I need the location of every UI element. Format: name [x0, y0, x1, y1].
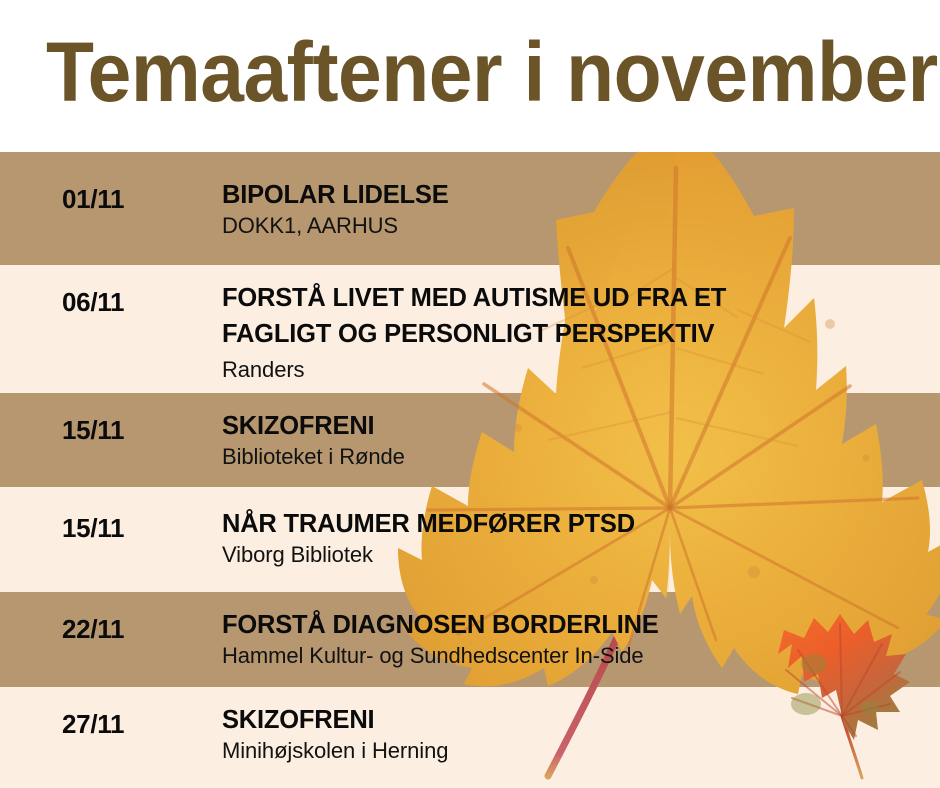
- event-title-line-2: FAGLIGT OG PERSONLIGT PERSPEKTIV: [222, 319, 940, 350]
- event-date: 15/11: [62, 415, 124, 445]
- event-venue: Viborg Bibliotek: [222, 541, 940, 569]
- event-details: FORSTÅ LIVET MED AUTISME UD FRA ET FAGLI…: [222, 283, 940, 384]
- event-venue: Randers: [222, 356, 940, 384]
- event-row[interactable]: 15/11 SKIZOFRENI Biblioteket i Rønde: [0, 393, 940, 487]
- event-title: SKIZOFRENI: [222, 411, 940, 442]
- event-details: FORSTÅ DIAGNOSEN BORDERLINE Hammel Kultu…: [222, 610, 940, 670]
- event-details: BIPOLAR LIDELSE DOKK1, AARHUS: [222, 180, 940, 240]
- event-title-line-1: FORSTÅ LIVET MED AUTISME UD FRA ET: [222, 283, 940, 314]
- event-row[interactable]: 06/11 FORSTÅ LIVET MED AUTISME UD FRA ET…: [0, 265, 940, 393]
- event-date: 06/11: [62, 287, 124, 317]
- event-venue: Biblioteket i Rønde: [222, 443, 940, 471]
- event-details: SKIZOFRENI Minihøjskolen i Herning: [222, 705, 940, 765]
- event-date: 27/11: [62, 709, 124, 739]
- page-title: Temaaftener i november: [46, 24, 938, 120]
- event-row[interactable]: 27/11 SKIZOFRENI Minihøjskolen i Herning: [0, 687, 940, 788]
- event-venue: Minihøjskolen i Herning: [222, 737, 940, 765]
- event-row[interactable]: 15/11 NÅR TRAUMER MEDFØRER PTSD Viborg B…: [0, 487, 940, 592]
- event-date: 22/11: [62, 614, 124, 644]
- event-date: 01/11: [62, 184, 124, 214]
- event-date: 15/11: [62, 513, 124, 543]
- event-title: SKIZOFRENI: [222, 705, 940, 736]
- header-band: Temaaftener i november: [0, 0, 940, 152]
- event-row[interactable]: 22/11 FORSTÅ DIAGNOSEN BORDERLINE Hammel…: [0, 592, 940, 687]
- event-title: FORSTÅ DIAGNOSEN BORDERLINE: [222, 610, 940, 641]
- event-venue: Hammel Kultur- og Sundhedscenter In-Side: [222, 642, 940, 670]
- event-title: NÅR TRAUMER MEDFØRER PTSD: [222, 509, 940, 540]
- event-details: SKIZOFRENI Biblioteket i Rønde: [222, 411, 940, 471]
- event-venue: DOKK1, AARHUS: [222, 212, 940, 240]
- poster-canvas: Temaaftener i november 01/11 BIPOLAR LID…: [0, 0, 940, 788]
- event-details: NÅR TRAUMER MEDFØRER PTSD Viborg Bibliot…: [222, 509, 940, 569]
- event-row[interactable]: 01/11 BIPOLAR LIDELSE DOKK1, AARHUS: [0, 152, 940, 265]
- event-title: BIPOLAR LIDELSE: [222, 180, 940, 211]
